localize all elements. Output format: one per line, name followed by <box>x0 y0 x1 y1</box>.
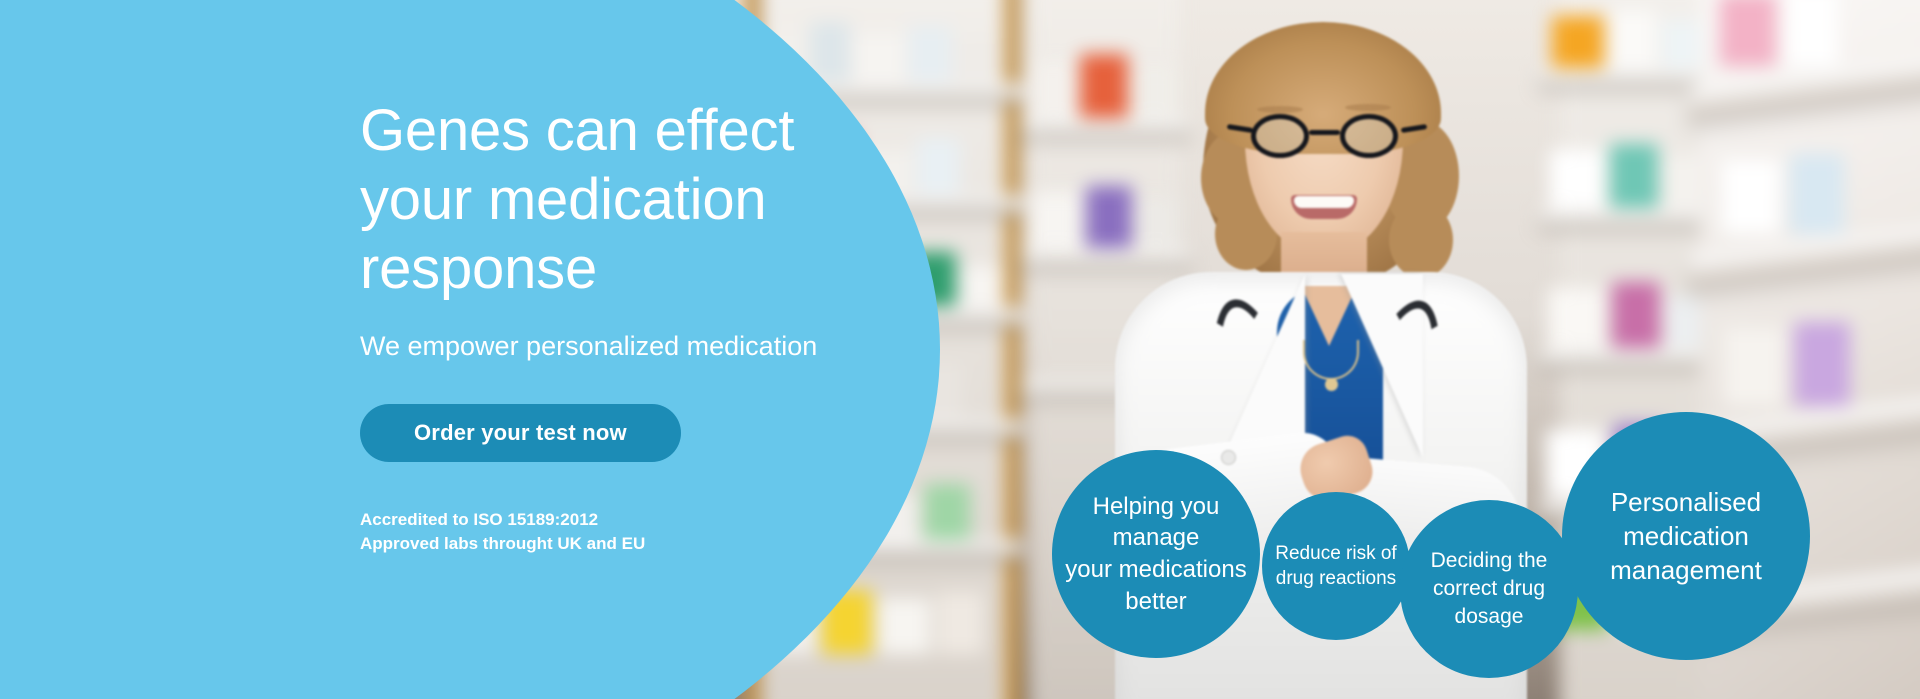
mouth <box>1291 195 1357 219</box>
product-box <box>1612 282 1660 348</box>
product-box <box>1790 154 1844 234</box>
eyeglasses <box>1251 114 1403 158</box>
subtitle: We empower personalized medication <box>360 329 830 364</box>
accreditation-block: Accredited to ISO 15189:2012 Approved la… <box>360 508 830 555</box>
product-box <box>1794 322 1850 406</box>
product-box <box>854 34 904 82</box>
product-box <box>1722 160 1780 234</box>
eyebrow <box>1257 106 1303 113</box>
product-box <box>1030 192 1080 248</box>
badge-correct-dosage[interactable]: Deciding the correct drug dosage <box>1400 500 1578 678</box>
product-box <box>1552 16 1604 68</box>
product-box <box>878 598 930 654</box>
hero-content: Genes can effect your medication respons… <box>360 96 830 555</box>
product-box <box>960 266 1004 306</box>
teeth <box>1294 196 1354 208</box>
product-box <box>1720 0 1776 66</box>
coat-button <box>1221 450 1236 465</box>
product-box <box>1610 10 1656 68</box>
hair-curl <box>1389 202 1453 278</box>
product-box <box>1548 288 1604 348</box>
product-box <box>1030 62 1074 118</box>
product-box <box>908 26 952 82</box>
product-box <box>1610 144 1658 208</box>
product-box <box>1724 328 1784 406</box>
badge-reduce-risk[interactable]: Reduce risk of drug reactions <box>1262 492 1410 640</box>
order-test-button[interactable]: Order your test now <box>360 404 681 462</box>
page-title: Genes can effect your medication respons… <box>360 96 830 303</box>
accreditation-line-2: Approved labs throught UK and EU <box>360 532 830 555</box>
glasses-bridge <box>1309 130 1340 135</box>
product-box <box>1550 150 1604 208</box>
accreditation-line-1: Accredited to ISO 15189:2012 <box>360 508 830 531</box>
glasses-lens <box>1340 114 1398 158</box>
eyebrow <box>1345 104 1391 111</box>
hero-banner: Genes can effect your medication respons… <box>0 0 1920 699</box>
product-box <box>936 592 984 654</box>
necklace-pendant <box>1325 378 1338 391</box>
glasses-lens <box>1251 114 1309 158</box>
badge-personalised-management[interactable]: Personalised medication management <box>1562 412 1810 660</box>
product-box <box>956 38 1002 82</box>
product-box <box>924 484 970 540</box>
badge-helping-you-manage[interactable]: Helping you manage your medications bett… <box>1052 450 1260 658</box>
shelf-post <box>1004 0 1020 699</box>
product-box <box>916 138 960 194</box>
product-box <box>1786 0 1838 66</box>
